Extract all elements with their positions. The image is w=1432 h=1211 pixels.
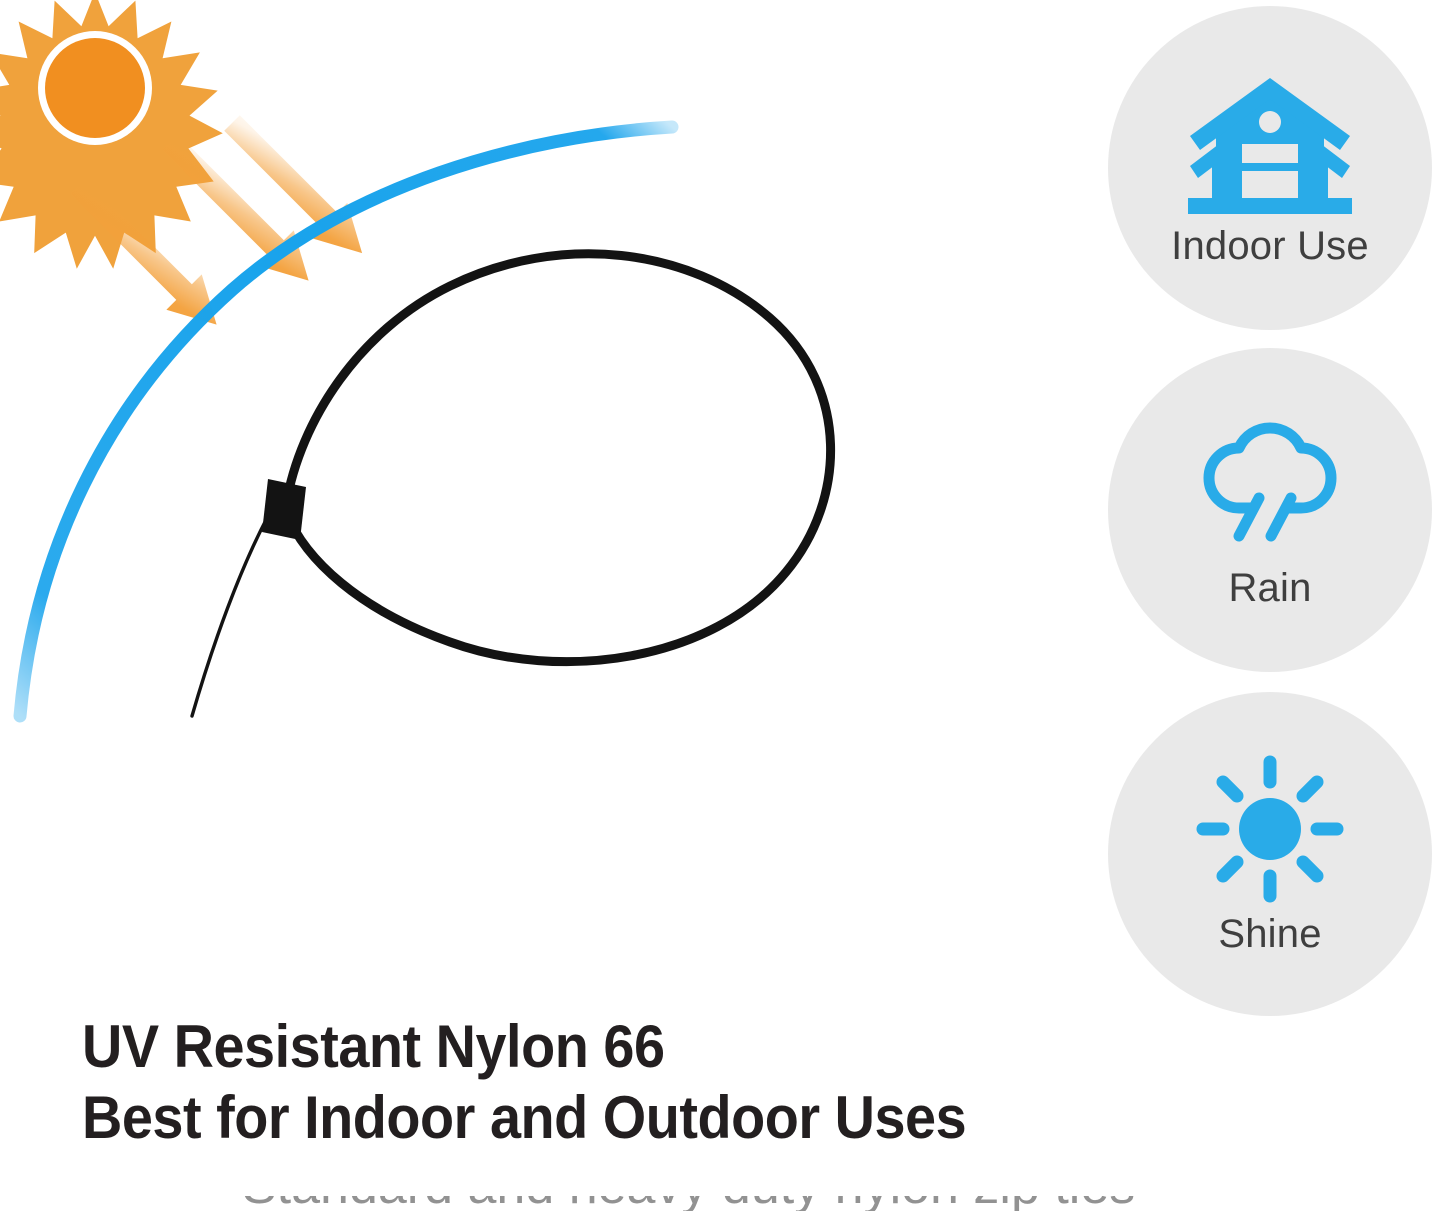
headline-line-2: Best for Indoor and Outdoor Uses	[82, 1083, 1012, 1154]
feature-label-shine: Shine	[1218, 914, 1321, 954]
cable-tie-icon	[192, 254, 831, 716]
rain-cloud-icon	[1187, 412, 1353, 554]
uv-protection-illustration	[0, 0, 1060, 990]
feature-label-rain: Rain	[1228, 568, 1311, 608]
cable-tie-head	[262, 479, 306, 540]
sun-core-icon	[45, 38, 145, 138]
product-feature-infographic: Indoor Use Rain	[0, 0, 1432, 1211]
bottom-caption-text: Standard and heavy duty nylon zip ties	[242, 1196, 1135, 1211]
feature-badge-indoor-use[interactable]: Indoor Use	[1108, 6, 1432, 330]
feature-badge-rain[interactable]: Rain	[1108, 348, 1432, 672]
headline-line-1: UV Resistant Nylon 66	[82, 1012, 1012, 1083]
feature-label-indoor-use: Indoor Use	[1171, 226, 1369, 266]
house-icon	[1182, 70, 1358, 220]
feature-badge-column: Indoor Use Rain	[1108, 0, 1432, 1020]
feature-badge-shine[interactable]: Shine	[1108, 692, 1432, 1016]
headline-block: UV Resistant Nylon 66 Best for Indoor an…	[82, 1012, 1082, 1154]
sun-shine-icon	[1195, 754, 1345, 904]
cable-tie-tail	[192, 520, 266, 716]
cable-tie-loop	[286, 254, 831, 662]
bottom-caption-clip: Standard and heavy duty nylon zip ties	[0, 1196, 1432, 1211]
illustration-stage	[0, 0, 1060, 990]
